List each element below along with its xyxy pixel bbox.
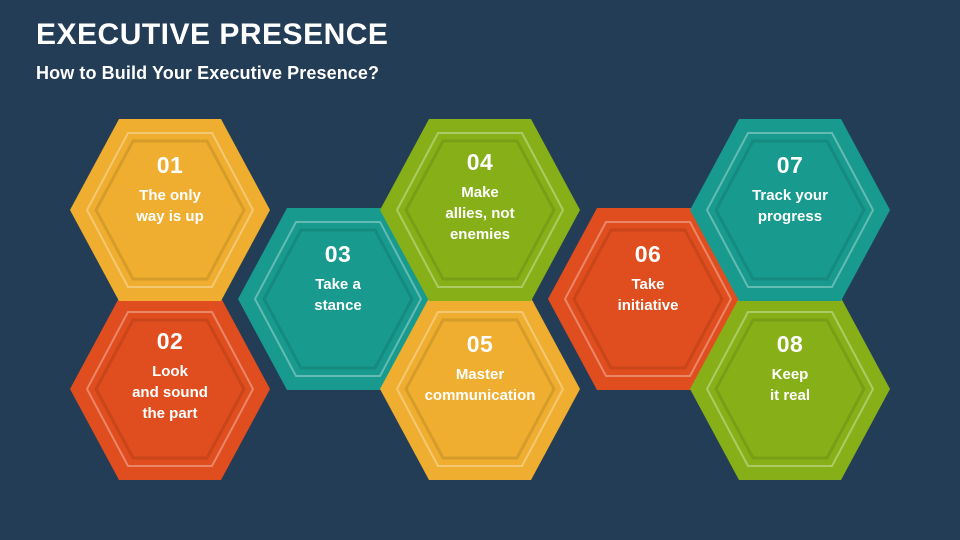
hexagon-caption-04: Make allies, not enemies [378, 183, 582, 245]
hexagon-item-08[interactable]: 08 Keep it real [688, 296, 892, 482]
hexagon-caption-05: Master communication [378, 365, 582, 406]
hexagon-number-04: 04 [378, 150, 582, 174]
slide-canvas: EXECUTIVE PRESENCE How to Build Your Exe… [0, 0, 960, 540]
hexagon-number-02: 02 [68, 329, 272, 353]
hexagon-caption-07: Track your progress [688, 186, 892, 227]
hexagon-number-05: 05 [378, 332, 582, 356]
hexagon-number-07: 07 [688, 153, 892, 177]
hexagon-caption-08: Keep it real [688, 365, 892, 406]
hexagon-number-08: 08 [688, 332, 892, 356]
hexagon-caption-02: Look and sound the part [68, 362, 272, 424]
hexagon-number-01: 01 [68, 153, 272, 177]
hexagon-item-07[interactable]: 07 Track your progress [688, 117, 892, 303]
hexagon-item-04[interactable]: 04 Make allies, not enemies [378, 117, 582, 303]
hexagon-item-02[interactable]: 02 Look and sound the part [68, 296, 272, 482]
hexagon-item-05[interactable]: 05 Master communication [378, 296, 582, 482]
hexagon-item-01[interactable]: 01 The only way is up [68, 117, 272, 303]
hexagon-caption-01: The only way is up [68, 186, 272, 227]
hexagon-diagram: 01 The only way is up 02 Look and sound … [0, 0, 960, 540]
